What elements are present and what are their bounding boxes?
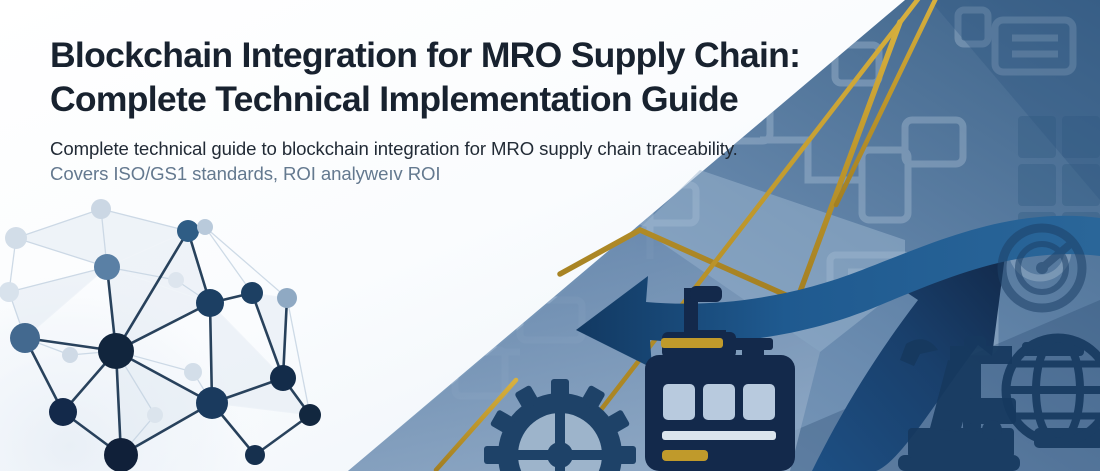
page-title: Blockchain Integration for MRO Supply Ch…: [50, 33, 880, 121]
hero-subtitle-line-2: Covers ISO/GS1 standards, ROI analyweıv …: [50, 162, 880, 187]
hero-text-block: Blockchain Integration for MRO Supply Ch…: [50, 33, 880, 187]
hero-banner: Blockchain Integration for MRO Supply Ch…: [0, 0, 1100, 471]
hero-subtitle-line-1: Complete technical guide to blockchain i…: [50, 137, 880, 162]
